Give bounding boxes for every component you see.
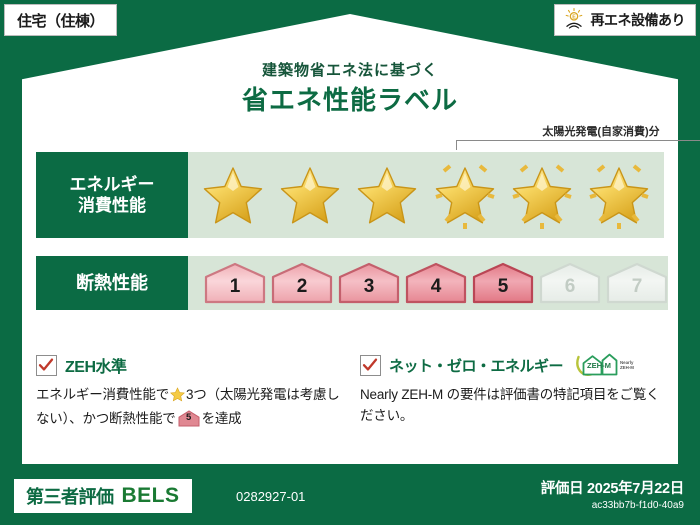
insulation-grade-number: 7 [632, 277, 643, 304]
insulation-performance-body: 1234567 [188, 256, 668, 310]
solar-sun-icon: E [563, 7, 585, 34]
inline-star-icon [170, 387, 185, 409]
net-zero-energy-description: Nearly ZEH-M の要件は評価書の特記項目をご覧ください。 [360, 385, 664, 427]
third-party-evaluation-box: 第三者評価 BELS [14, 479, 192, 513]
net-zero-energy-header: ネット・ゼロ・エネルギー ZEH-M Nearly ZEH-M [360, 352, 664, 378]
building-type-tag: 住宅（住棟） [4, 4, 117, 36]
checkmark-icon [38, 357, 54, 373]
zeh-m-logo-text: ZEH-M [587, 361, 611, 370]
building-type-tag-label: 住宅（住棟） [17, 10, 104, 31]
insulation-grade-number: 6 [565, 277, 576, 304]
energy-performance-label-line1: エネルギー [70, 174, 155, 195]
insulation-grade-number: 4 [431, 277, 442, 304]
net-zero-energy-checkbox [360, 355, 381, 376]
insulation-grade-7: 7 [606, 262, 668, 304]
star-icon [510, 164, 574, 226]
zeh-standard-title: ZEH水準 [65, 353, 127, 377]
zeh-standard-header: ZEH水準 [36, 352, 340, 378]
insulation-performance-label: 断熱性能 [36, 256, 188, 310]
energy-performance-label: エネルギー 消費性能 [36, 152, 188, 238]
star-6 [584, 157, 654, 233]
star-icon [201, 164, 265, 226]
performance-rows: エネルギー 消費性能 太陽光発電(自家消費)分 断熱性能 1234567 [36, 152, 664, 310]
insulation-grade-3: 3 [338, 262, 400, 304]
checkmark-icon [362, 357, 378, 373]
energy-performance-label-line2: 消費性能 [78, 195, 146, 216]
net-zero-energy-title: ネット・ゼロ・エネルギー [389, 355, 563, 376]
renewable-energy-badge: E 再エネ設備あり [554, 4, 697, 36]
zeh-standard-description: エネルギー消費性能で3つ（太陽光発電は考慮しない）、かつ断熱性能で5を達成 [36, 385, 340, 430]
star-3 [352, 157, 422, 233]
third-party-evaluation-label: 第三者評価 [26, 483, 114, 509]
star-5 [507, 157, 577, 233]
label-title: 省エネ性能ラベル [0, 86, 700, 116]
insulation-grade-number: 2 [297, 277, 308, 304]
svg-text:E: E [572, 14, 576, 20]
bels-label: BELS [122, 484, 180, 508]
renewable-energy-badge-label: 再エネ設備あり [591, 10, 686, 30]
insulation-grade-scale: 1234567 [188, 262, 668, 304]
energy-performance-row: エネルギー 消費性能 太陽光発電(自家消費)分 [36, 152, 664, 238]
star-icon [355, 164, 419, 226]
solar-annotation-label: 太陽光発電(自家消費)分 [456, 126, 700, 138]
insulation-grade-number: 5 [498, 277, 509, 304]
bels-certificate-number: 0282927-01 [236, 489, 305, 504]
zeh-standard-column: ZEH水準 エネルギー消費性能で3つ（太陽光発電は考慮しない）、かつ断熱性能で5… [36, 352, 340, 430]
star-4 [430, 157, 500, 233]
solar-annotation-bracket [456, 140, 700, 150]
zeh-standard-checkbox [36, 355, 57, 376]
insulation-grade-5: 5 [472, 262, 534, 304]
insulation-grade-2: 2 [271, 262, 333, 304]
evaluation-date: 評価日 2025年7月22日 [541, 481, 684, 498]
insulation-performance-row: 断熱性能 1234567 [36, 256, 664, 310]
star-icon [278, 164, 342, 226]
energy-performance-label: 住宅（住棟） E 再エネ設備あり 建築物省エネ法に基づく 省エネ性能ラベ [0, 0, 700, 525]
star-1 [198, 157, 268, 233]
zeh-info-section: ZEH水準 エネルギー消費性能で3つ（太陽光発電は考慮しない）、かつ断熱性能で5… [36, 352, 664, 430]
star-icon [433, 164, 497, 226]
insulation-grade-4: 4 [405, 262, 467, 304]
net-zero-energy-column: ネット・ゼロ・エネルギー ZEH-M Nearly ZEH-M Nearly Z… [360, 352, 664, 430]
star-rating [188, 152, 664, 238]
zeh-m-logo-sub2: ZEH-M [620, 365, 634, 370]
footer-meta: 評価日 2025年7月22日 ac33bb7b-f1d0-40a9 [541, 481, 684, 511]
solar-annotation: 太陽光発電(自家消費)分 [456, 126, 700, 150]
zeh-m-logo: ZEH-M Nearly ZEH-M [575, 351, 635, 379]
label-subtitle: 建築物省エネ法に基づく [0, 62, 700, 80]
title-block: 建築物省エネ法に基づく 省エネ性能ラベル [0, 62, 700, 116]
insulation-grade-6: 6 [539, 262, 601, 304]
zeh-desc-part3: を達成 [202, 411, 242, 426]
star-icon [587, 164, 651, 226]
star-2 [275, 157, 345, 233]
inline-grade-badge: 5 [178, 410, 200, 427]
insulation-performance-label-text: 断熱性能 [76, 272, 148, 295]
label-hash-id: ac33bb7b-f1d0-40a9 [541, 500, 684, 511]
zeh-desc-part1: エネルギー消費性能で [36, 387, 169, 402]
inline-grade-number: 5 [178, 411, 200, 426]
insulation-grade-1: 1 [204, 262, 266, 304]
insulation-grade-number: 1 [230, 277, 241, 304]
insulation-grade-number: 3 [364, 277, 375, 304]
energy-performance-body: 太陽光発電(自家消費)分 [188, 152, 664, 238]
